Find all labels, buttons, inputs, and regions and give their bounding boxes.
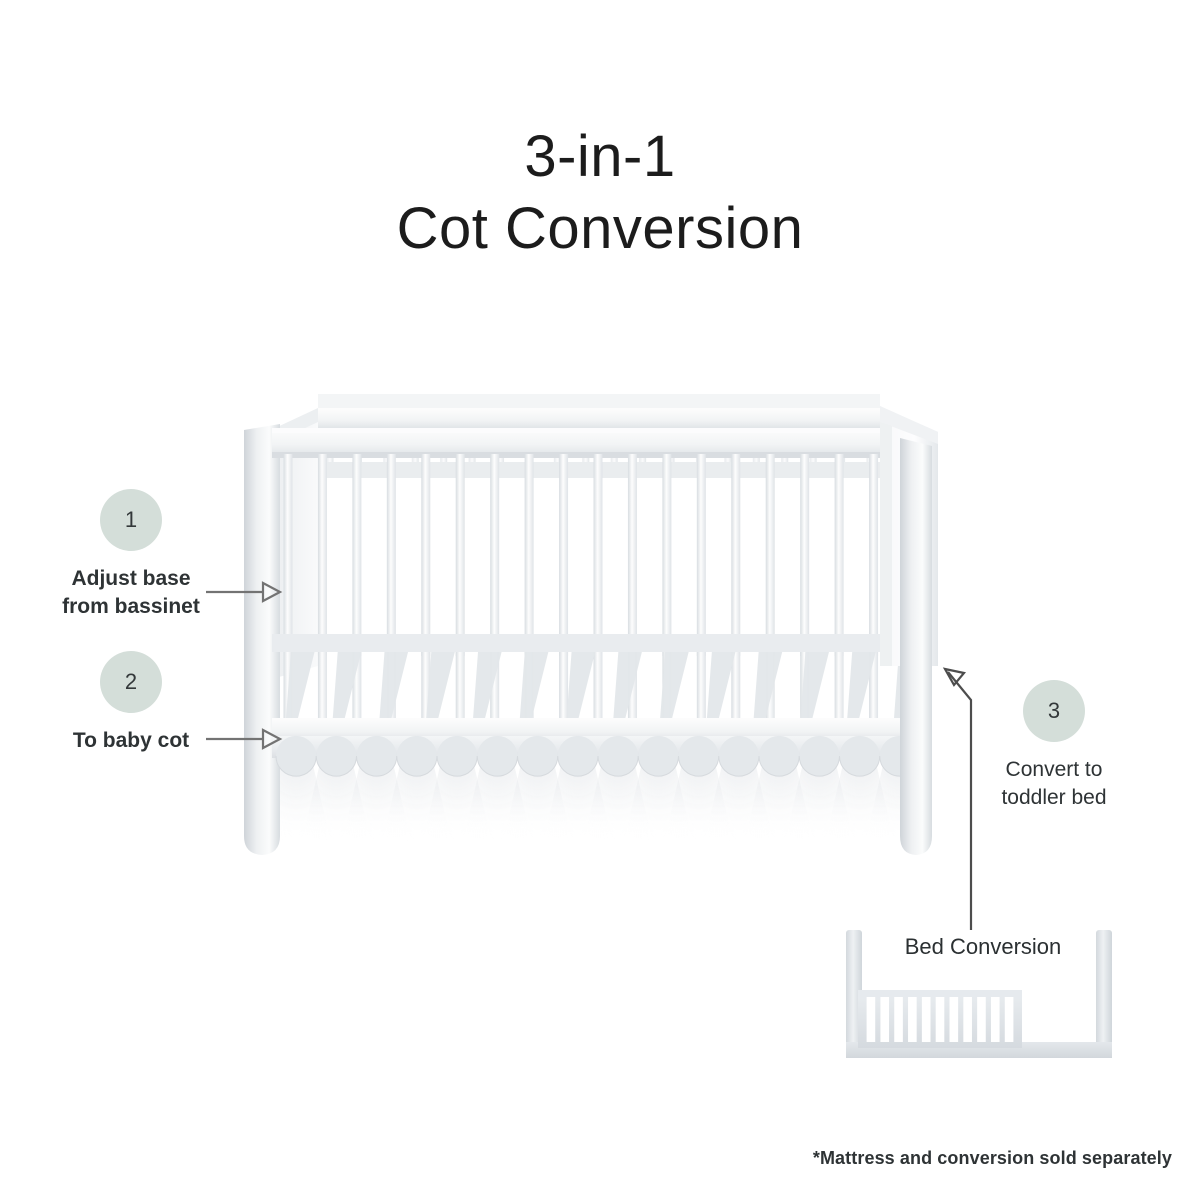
callout-1-label: Adjust base from bassinet (24, 565, 238, 620)
title-line-1: 3-in-1 (0, 128, 1200, 186)
footnote: *Mattress and conversion sold separately (813, 1148, 1172, 1169)
callout-2-number: 2 (125, 671, 137, 693)
bed-guard-rail (858, 990, 1022, 1048)
crib-front-top-rail (272, 428, 922, 458)
crib-right-post (900, 438, 932, 855)
callout-2-badge: 2 (100, 651, 162, 713)
crib-svg (232, 366, 952, 866)
bed-conversion-label: Bed Conversion (838, 934, 1128, 960)
callout-3-number: 3 (1048, 700, 1060, 722)
callout-1: 1 Adjust base from bassinet (24, 489, 238, 620)
callout-2-label: To baby cot (24, 727, 238, 755)
crib-scallop-skirt (272, 736, 922, 776)
callout-3: 3 Convert to toddler bed (960, 680, 1148, 811)
title-line-2: Cot Conversion (0, 200, 1200, 258)
callout-2: 2 To baby cot (24, 651, 238, 755)
callout-3-badge: 3 (1023, 680, 1085, 742)
crib-floor-shadow (258, 758, 938, 858)
crib-illustration (232, 366, 952, 866)
callout-1-number: 1 (125, 509, 137, 531)
page-title: 3-in-1 Cot Conversion (0, 128, 1200, 258)
callout-1-badge: 1 (100, 489, 162, 551)
callout-3-label: Convert to toddler bed (960, 756, 1148, 811)
infographic-canvas: 3-in-1 Cot Conversion (0, 0, 1200, 1200)
